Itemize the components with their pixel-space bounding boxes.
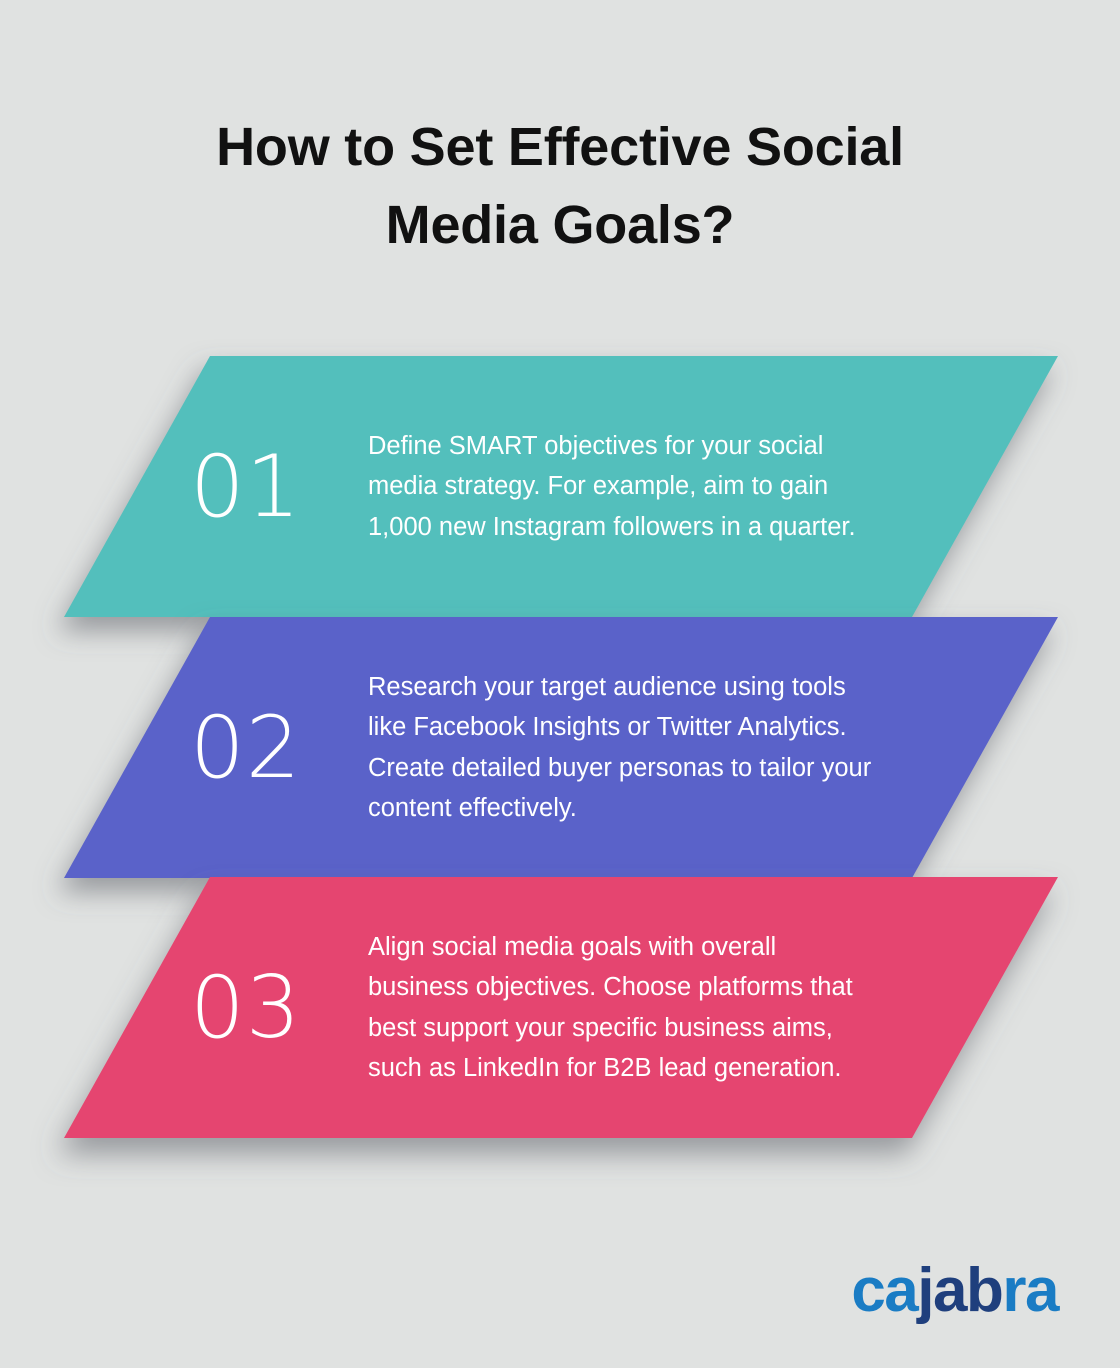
logo-part-2: jab bbox=[917, 1256, 1002, 1325]
card-content-03: 03 Align social media goals with overall… bbox=[0, 877, 1120, 1138]
card-number-03: 03 bbox=[190, 965, 340, 1051]
card-content-01: 01 Define SMART objectives for your soci… bbox=[0, 356, 1120, 617]
card-text-03: Align social media goals with overall bu… bbox=[368, 927, 878, 1088]
page-title: How to Set Effective Social Media Goals? bbox=[140, 108, 980, 265]
card-text-02: Research your target audience using tool… bbox=[368, 667, 878, 828]
cards-stack: 01 Define SMART objectives for your soci… bbox=[0, 356, 1120, 1138]
card-number-02: 02 bbox=[190, 705, 340, 791]
card-content-02: 02 Research your target audience using t… bbox=[0, 617, 1120, 878]
card-text-01: Define SMART objectives for your social … bbox=[368, 426, 878, 547]
brand-logo[interactable]: cajabra bbox=[851, 1260, 1058, 1322]
step-card-02[interactable]: 02 Research your target audience using t… bbox=[0, 617, 1120, 878]
logo-part-1: ca bbox=[851, 1256, 917, 1325]
logo-part-3: ra bbox=[1002, 1256, 1058, 1325]
step-card-01[interactable]: 01 Define SMART objectives for your soci… bbox=[0, 356, 1120, 617]
card-number-01: 01 bbox=[190, 444, 340, 530]
step-card-03[interactable]: 03 Align social media goals with overall… bbox=[0, 877, 1120, 1138]
infographic-root: How to Set Effective Social Media Goals?… bbox=[0, 0, 1120, 1368]
